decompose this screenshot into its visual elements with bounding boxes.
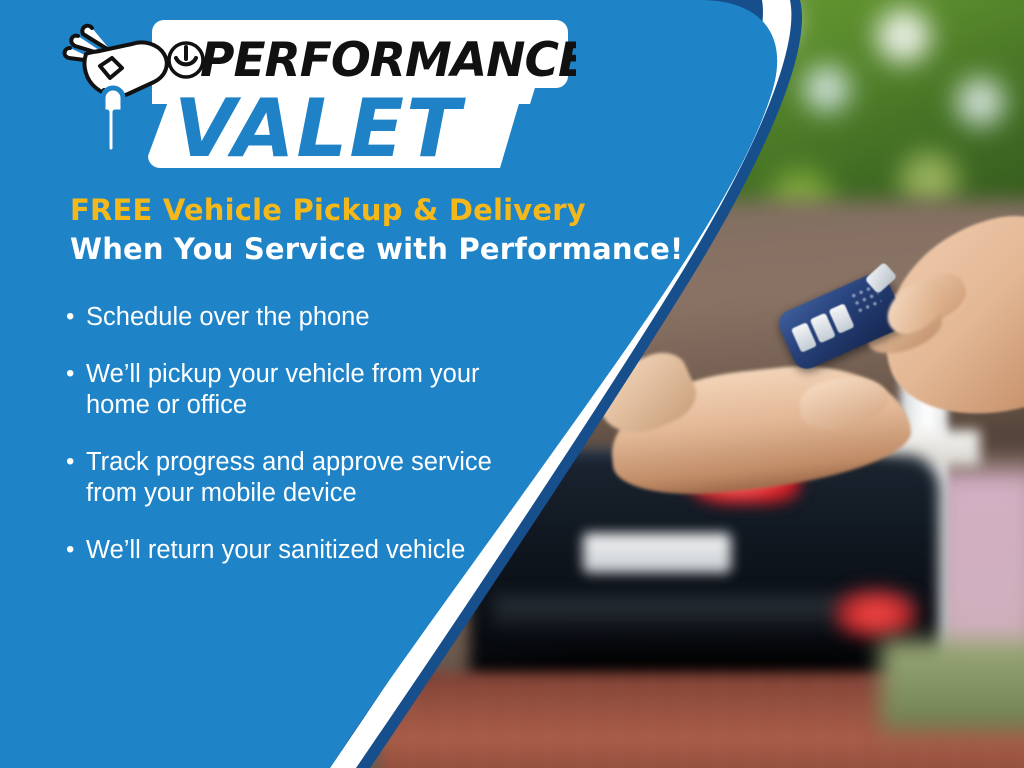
list-item-label: We’ll pickup your vehicle from your home… (86, 359, 536, 421)
list-item: • Schedule over the phone (66, 302, 536, 333)
list-item-label: We’ll return your sanitized vehicle (86, 535, 465, 566)
performance-valet-logo: PERFORMANCE VALET (56, 14, 576, 182)
list-item: • We’ll pickup your vehicle from your ho… (66, 359, 536, 421)
list-item: • Track progress and approve service fro… (66, 447, 536, 509)
bullet-icon: • (66, 447, 86, 477)
headline-line-2: When You Service with Performance! (70, 233, 670, 265)
headline-block: FREE Vehicle Pickup & Delivery When You … (70, 194, 670, 266)
power-button-icon (169, 43, 203, 77)
benefits-list: • Schedule over the phone • We’ll pickup… (66, 302, 536, 592)
driveway-grass-edge (880, 640, 1024, 730)
headline-line-1: FREE Vehicle Pickup & Delivery (70, 194, 670, 226)
bullet-icon: • (66, 359, 86, 389)
bullet-icon: • (66, 302, 86, 332)
list-item: • We’ll return your sanitized vehicle (66, 535, 536, 566)
logo-performance-text: PERFORMANCE (200, 33, 576, 88)
list-item-label: Schedule over the phone (86, 302, 370, 333)
logo-valet-text: VALET (174, 82, 466, 175)
list-item-label: Track progress and approve service from … (86, 447, 536, 509)
suv-taillight-right (836, 590, 916, 638)
content-area: PERFORMANCE VALET FREE Vehicle Pickup & … (0, 0, 700, 768)
bullet-icon: • (66, 535, 86, 565)
key-icon (103, 88, 123, 152)
valet-promo-banner: PERFORMANCE VALET FREE Vehicle Pickup & … (0, 0, 1024, 768)
